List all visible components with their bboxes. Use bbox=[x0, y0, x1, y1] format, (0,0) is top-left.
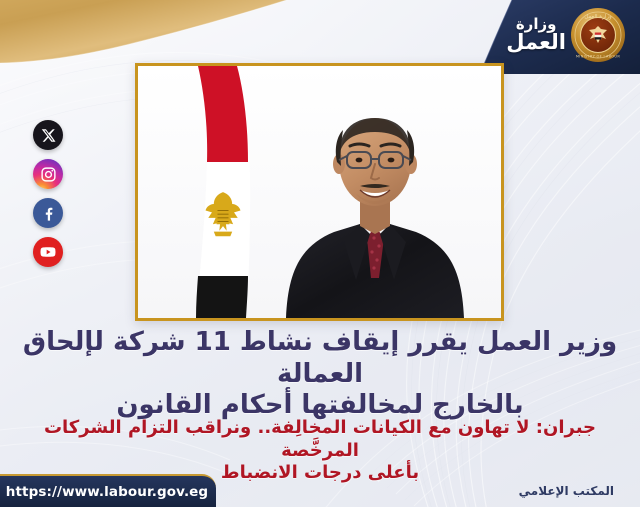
website-url-pill[interactable]: https://www.labour.gov.eg bbox=[0, 474, 216, 507]
ministry-wordmark-line2: العمل bbox=[506, 33, 566, 53]
ministry-seal-icon: وزارة العمل MINISTRY OF LABOUR bbox=[570, 7, 626, 63]
subheadline-line-1: جبران: لا تهاون مع الكيانات المخالِفة.. … bbox=[12, 417, 628, 462]
headline: وزير العمل يقرر إيقاف نشاط 11 شركة لإلحا… bbox=[0, 327, 640, 422]
instagram-icon[interactable] bbox=[33, 159, 63, 189]
facebook-icon[interactable] bbox=[33, 198, 63, 228]
footer-bar: https://www.labour.gov.eg المكتب الإعلام… bbox=[0, 470, 640, 507]
headline-line-1: وزير العمل يقرر إيقاف نشاط 11 شركة لإلحا… bbox=[14, 327, 626, 390]
ministry-wordmark: وزارة العمل bbox=[506, 17, 566, 52]
social-icons bbox=[33, 120, 63, 267]
media-office-label: المكتب الإعلامي bbox=[519, 484, 614, 498]
svg-text:وزارة العمل: وزارة العمل bbox=[584, 14, 612, 20]
date-banner: 2025/12/2 bbox=[0, 0, 360, 70]
poster-canvas: 2025/12/2 وزارة العمل bbox=[0, 0, 640, 507]
minister-photo-frame bbox=[135, 63, 504, 321]
youtube-icon[interactable] bbox=[33, 237, 63, 267]
svg-text:MINISTRY OF LABOUR: MINISTRY OF LABOUR bbox=[576, 55, 621, 59]
x-twitter-icon[interactable] bbox=[33, 120, 63, 150]
website-url: https://www.labour.gov.eg bbox=[6, 484, 208, 500]
minister-photo bbox=[138, 66, 501, 318]
